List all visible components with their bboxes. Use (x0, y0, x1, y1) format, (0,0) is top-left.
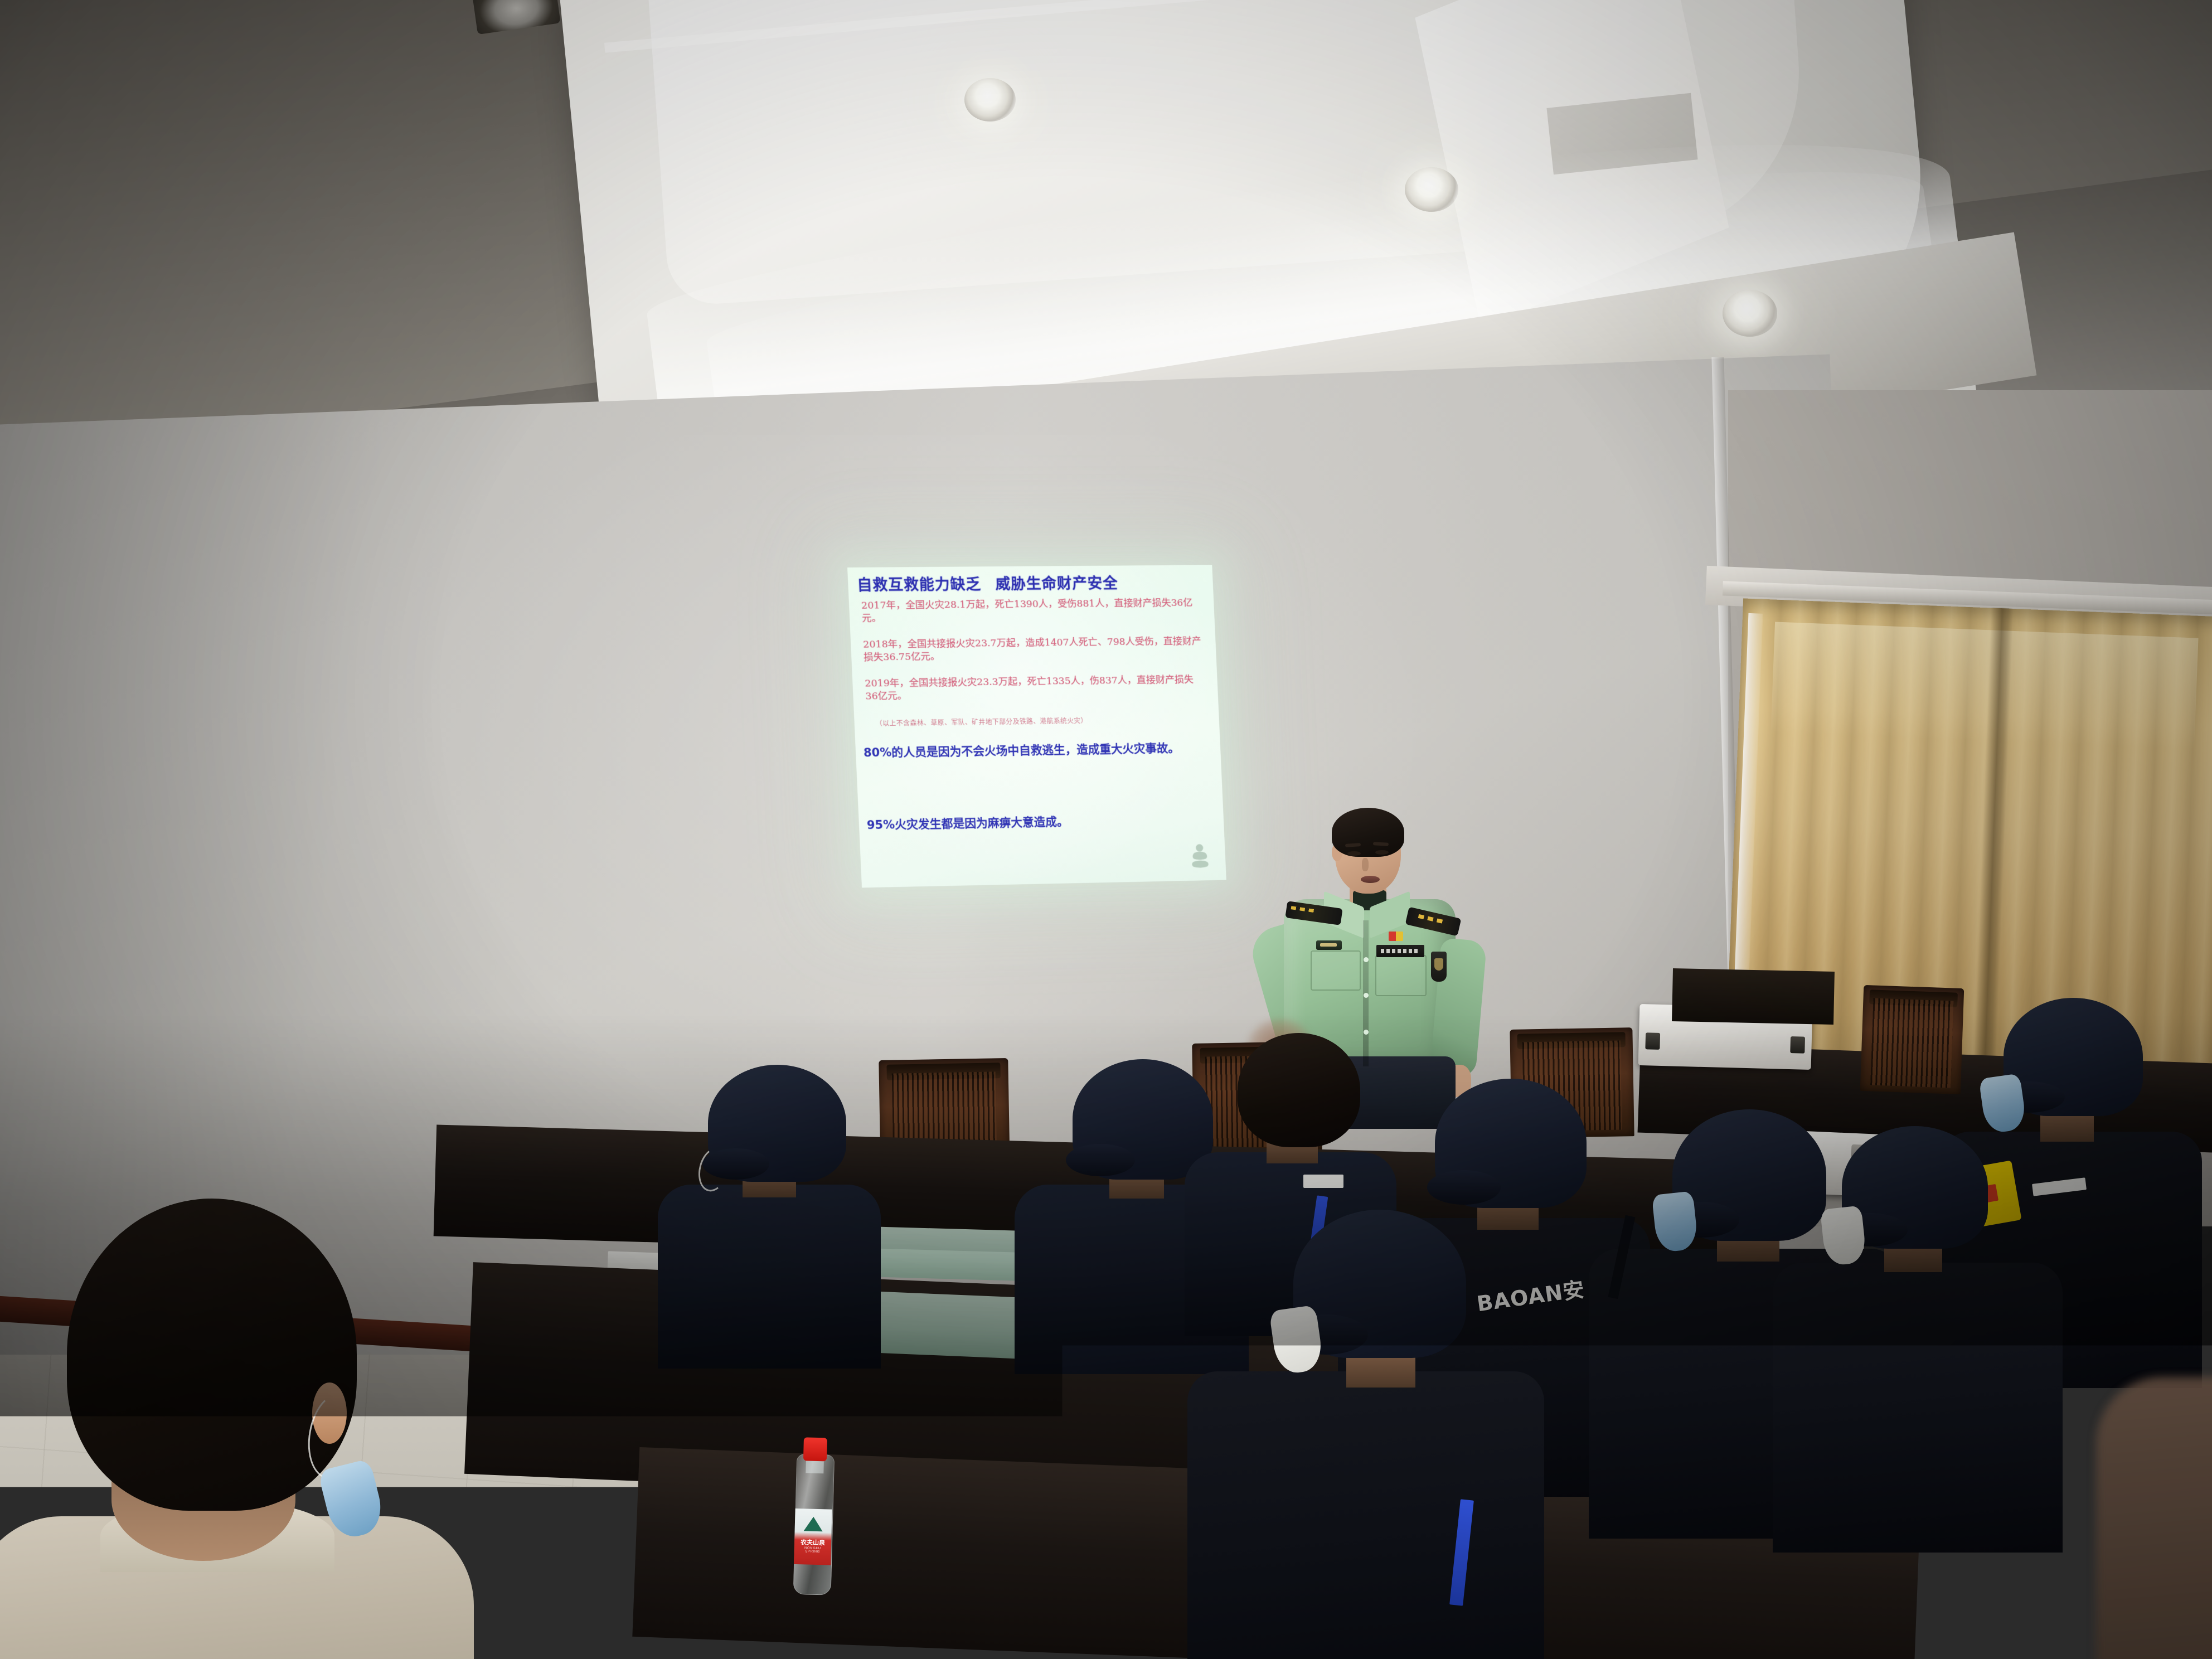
slide-title-right: 威胁生命财产安全 (995, 575, 1118, 593)
slide-stat-2017: 2017年，全国火灾28.1万起，死亡1390人，受伤881人，直接财产损失36… (861, 597, 1202, 625)
foreground-dark-shoulder (1689, 1500, 1879, 1659)
slide-highlight-95: 95%火灾发生都是因为麻痹大意造成。 (866, 812, 1211, 833)
bottle-brand-cn: 农夫山泉 (797, 1537, 829, 1548)
slide-stat-2018: 2018年，全国共接报火灾23.7万起，造成1407人死亡、798人受伤，直接财… (863, 635, 1204, 664)
slide-highlight-80-text: 的人员是因为不会火场中自救逃生，造成重大火灾事故。 (891, 741, 1180, 759)
case-lid (1672, 968, 1835, 1025)
badge-strip (1303, 1175, 1343, 1188)
slide-highlight-95-pct: 95% (866, 818, 895, 832)
slide-highlight-80: 80%的人员是因为不会火场中自救逃生，造成重大火灾事故。 (864, 740, 1209, 760)
presenter-button (1364, 957, 1369, 962)
mountain-icon (804, 1516, 823, 1531)
slide-emblem-icon (1183, 841, 1216, 873)
presenter-button (1364, 993, 1369, 998)
presenter-chest-badge-icon (1316, 940, 1342, 950)
conference-room-photo: 自救互救能力缺乏威胁生命财产安全 2017年，全国火灾28.1万起，死亡1390… (0, 0, 2212, 1659)
presenter-medal-icon (1389, 932, 1403, 941)
presenter-pocket-left (1311, 950, 1361, 991)
presenter-hair (1332, 808, 1404, 857)
bottle-cap (803, 1437, 827, 1461)
ceiling-downlight-icon (1723, 290, 1777, 337)
bottle-brand-en: NONGFU SPRING (797, 1546, 829, 1554)
slide-content: 自救互救能力缺乏威胁生命财产安全 2017年，全国火灾28.1万起，死亡1390… (847, 565, 1226, 887)
presenter-mouth (1361, 876, 1380, 883)
projection-screen: 自救互救能力缺乏威胁生命财产安全 2017年，全国火灾28.1万起，死亡1390… (847, 565, 1226, 887)
slide-title: 自救互救能力缺乏威胁生命财产安全 (856, 570, 1208, 594)
presenter-button (1364, 1030, 1369, 1035)
presenter-nose (1362, 858, 1369, 871)
chair-back (1860, 985, 1964, 1094)
slide-highlight-95-text: 火灾发生都是因为麻痹大意造成。 (895, 815, 1069, 832)
presenter-pocket-right (1375, 955, 1427, 996)
slide-title-left: 自救互救能力缺乏 (857, 576, 982, 594)
ceiling-downlight-icon (1405, 167, 1458, 212)
slide-stat-2019: 2019年，全国共接报火灾23.3万起，死亡1335人，伤837人，直接财产损失… (865, 673, 1206, 703)
foreground-blurred-person (2096, 1377, 2212, 1659)
ceiling-downlight-icon (964, 78, 1016, 122)
presenter-name-tag (1376, 945, 1424, 957)
presenter-arm-patch-icon (1431, 952, 1447, 982)
presenter-eye-left (1347, 851, 1361, 856)
slide-highlight-80-pct: 80% (864, 746, 892, 760)
presenter-eye-right (1375, 850, 1389, 855)
bottle-label: 农夫山泉 NONGFU SPRING (794, 1508, 832, 1565)
slide-footnote: （以上不含森林、草原、军队、矿井地下部分及铁路、港航系统火灾） (875, 716, 1088, 728)
curtain-highlight (1770, 622, 2198, 749)
